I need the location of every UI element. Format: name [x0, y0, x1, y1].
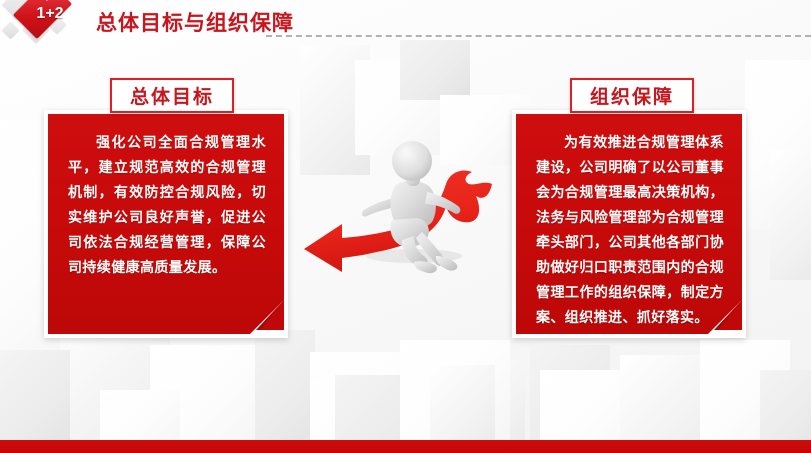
card-overall-goal: 强化公司全面合规管理水平，建立规范高效的合规管理机制，有效防控合规风险，切实维护… — [44, 110, 288, 338]
badge-overall-goal-label: 总体目标 — [130, 82, 214, 109]
logo-diamond-cluster-icon: 1+2 — [4, 0, 96, 52]
illustration-person-surfing-red-arrow — [296, 128, 516, 293]
bg-block — [0, 350, 70, 453]
badge-overall-goal: 总体目标 — [110, 78, 234, 113]
logo-text: 1+2 — [14, 5, 86, 23]
footer-accent-bar — [0, 440, 811, 453]
card-overall-goal-text: 强化公司全面合规管理水平，建立规范高效的合规管理机制，有效防控合规风险，切实维护… — [68, 130, 266, 280]
slide-header: 1+2 总体目标与组织保障 — [0, 0, 811, 46]
slide-canvas: 1+2 总体目标与组织保障 — [0, 0, 811, 453]
card-organizational-guarantee: 为有效推进合规管理体系建设，公司明确了以公司董事会为合规管理最高决策机构，法务与… — [512, 110, 746, 338]
card-folded-corner-icon — [246, 296, 288, 338]
bg-block — [255, 330, 315, 453]
page-title: 总体目标与组织保障 — [96, 7, 294, 37]
badge-organizational-guarantee-label: 组织保障 — [590, 82, 674, 109]
badge-organizational-guarantee: 组织保障 — [570, 78, 694, 113]
card-folded-corner-icon — [704, 296, 746, 338]
bg-block — [400, 40, 470, 100]
header-dashed-divider — [266, 35, 811, 37]
card-organizational-guarantee-text: 为有效推进合规管理体系建设，公司明确了以公司董事会为合规管理最高决策机构，法务与… — [536, 130, 724, 330]
bg-block — [770, 150, 811, 280]
logo-diamond-grey-icon — [1, 21, 19, 39]
